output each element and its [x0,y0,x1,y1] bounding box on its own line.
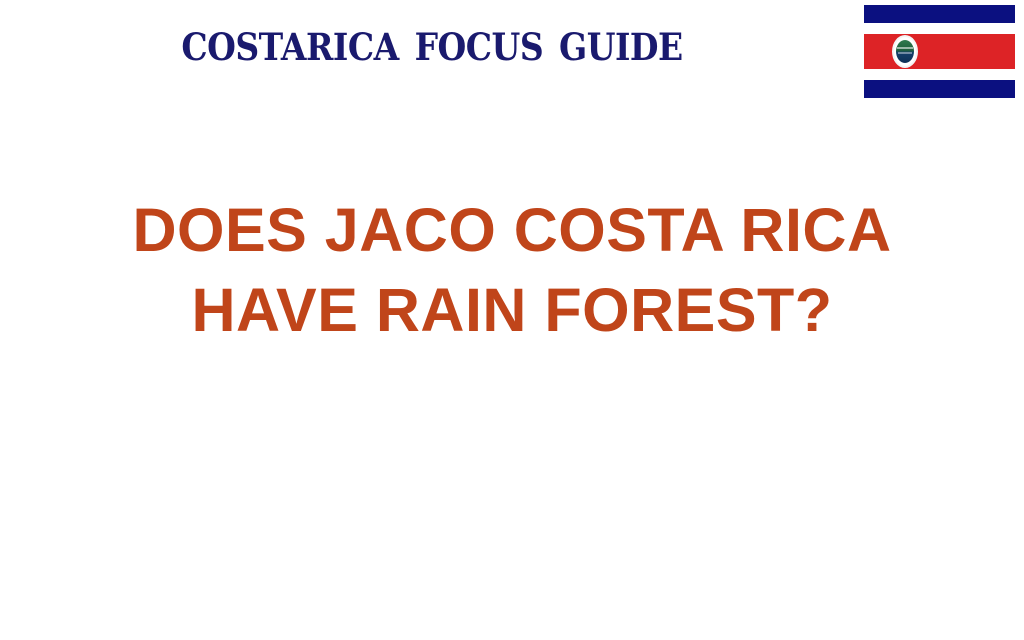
site-header: Costarica Focus Guide [0,0,1024,110]
flag-stripe-white-bottom [864,69,1015,80]
flag-stripe-red [864,34,1015,69]
costa-rica-flag-icon [864,5,1015,98]
coat-of-arms-icon [892,35,918,68]
main-content: DOES JACO COSTA RICA HAVE RAIN FOREST? [0,190,1024,350]
brand-logo-text: Costarica Focus Guide [181,15,682,70]
page-title-line-2: HAVE RAIN FOREST? [0,270,1024,350]
flag-stripe-blue-top [864,5,1015,23]
page-title-line-1: DOES JACO COSTA RICA [0,190,1024,270]
coat-of-arms-shield [896,40,914,63]
flag-stripe-blue-bottom [864,80,1015,98]
page-title: DOES JACO COSTA RICA HAVE RAIN FOREST? [0,190,1024,350]
flag-stripe-white-top [864,23,1015,34]
page-root: Costarica Focus Guide DOES JACO COSTA RI… [0,0,1024,640]
